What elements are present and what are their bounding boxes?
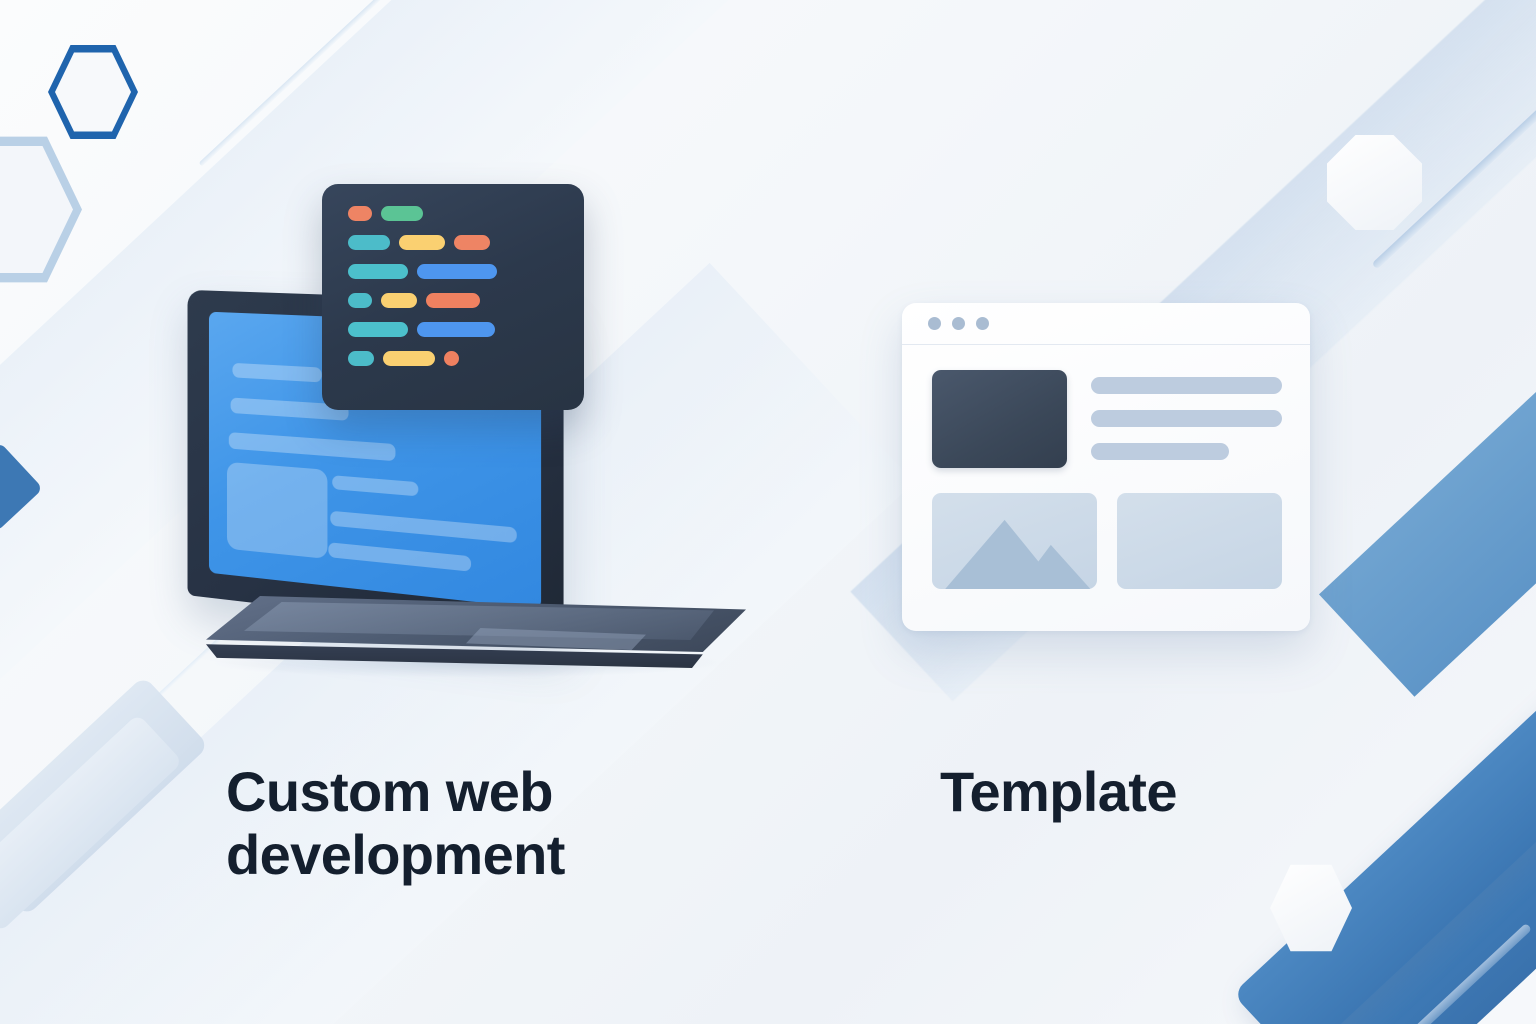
thin-diagonal-line-bottom-right	[1358, 923, 1532, 1024]
code-token-pill	[381, 293, 417, 308]
illustration-canvas: Custom web development Template	[0, 0, 1536, 1024]
browser-content	[902, 345, 1310, 589]
code-token-pill	[383, 351, 435, 366]
code-line-row	[348, 264, 584, 279]
screen-text-bar	[328, 542, 471, 571]
pale-slab-shape-secondary	[0, 714, 183, 933]
code-token-pill	[426, 293, 480, 308]
caption-template: Template	[940, 760, 1360, 823]
code-line-row	[348, 351, 584, 366]
code-token-pill	[348, 293, 372, 308]
code-token-pill	[348, 322, 408, 337]
code-token-pill	[381, 206, 423, 221]
octagon-white-icon	[1327, 135, 1422, 230]
window-control-dot[interactable]	[928, 317, 941, 330]
text-line-placeholder	[1091, 443, 1229, 460]
code-token-pill	[399, 235, 445, 250]
code-token-pill	[454, 235, 490, 250]
thin-diagonal-line-top-right	[1372, 39, 1536, 270]
text-line-placeholder	[1091, 377, 1282, 394]
browser-titlebar	[902, 303, 1310, 345]
text-line-placeholders	[1091, 370, 1282, 468]
code-token-pill	[348, 351, 374, 366]
hexagon-white-icon	[1270, 862, 1352, 954]
browser-content-bottom-row	[932, 493, 1282, 589]
hexagon-outline-pale-icon	[0, 132, 82, 287]
window-control-dot[interactable]	[976, 317, 989, 330]
caption-custom-web-development: Custom web development	[226, 760, 646, 887]
window-control-dot[interactable]	[952, 317, 965, 330]
browser-window-mockup	[902, 303, 1310, 631]
code-snippet-card	[322, 184, 584, 410]
pale-slab-shape	[0, 676, 209, 917]
dark-thumbnail-block	[932, 370, 1067, 468]
light-blue-diagonal-band	[1319, 103, 1536, 696]
browser-content-top-row	[932, 370, 1282, 468]
screen-text-bar	[332, 475, 418, 496]
code-token-pill	[417, 264, 497, 279]
code-line-row	[348, 235, 584, 250]
screen-text-bar	[232, 363, 321, 383]
thin-diagonal-line-top-left	[199, 0, 422, 167]
code-line-row	[348, 322, 584, 337]
screen-text-bar	[229, 432, 396, 461]
blue-chevron-shape	[0, 442, 43, 532]
code-line-row	[348, 206, 584, 221]
code-token-pill	[348, 264, 408, 279]
mountain-image-icon	[932, 493, 1097, 589]
code-token-pill	[417, 322, 495, 337]
blank-placeholder-card	[1117, 493, 1282, 589]
code-token-pill	[444, 351, 459, 366]
screen-image-block	[227, 462, 327, 559]
hexagon-outline-icon	[48, 42, 138, 142]
image-placeholder-card	[932, 493, 1097, 589]
code-token-pill	[348, 206, 372, 221]
screen-text-bar	[330, 511, 516, 543]
text-line-placeholder	[1091, 410, 1282, 427]
code-token-pill	[348, 235, 390, 250]
code-line-row	[348, 293, 584, 308]
